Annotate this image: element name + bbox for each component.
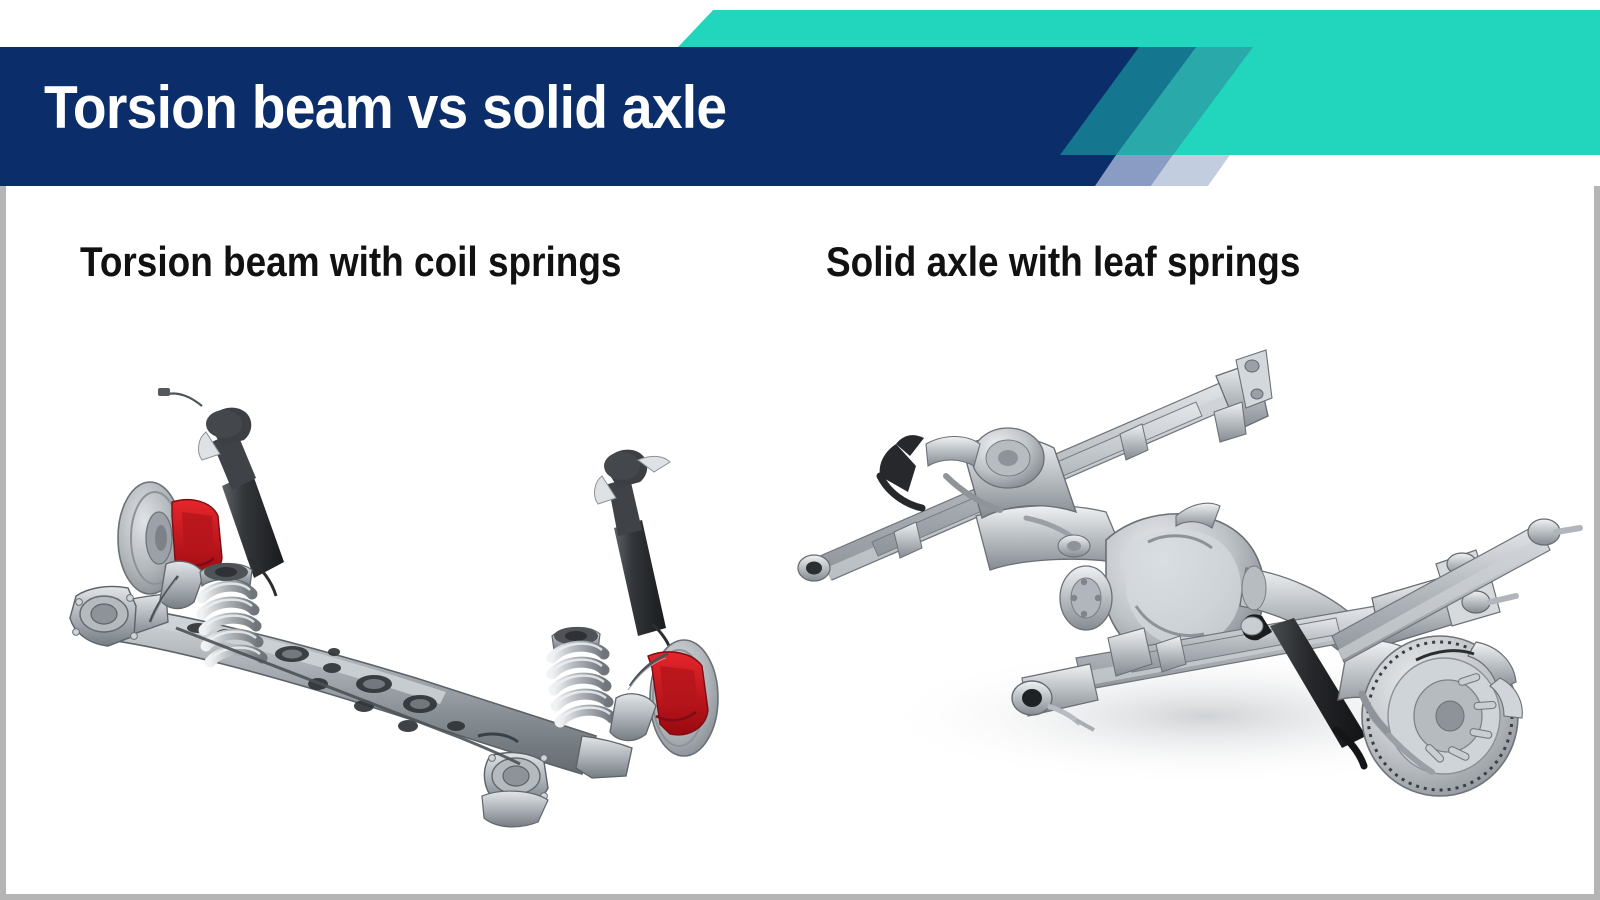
solid-axle-figure bbox=[776, 306, 1596, 826]
right-shock-absorber bbox=[595, 450, 674, 662]
right-coil-spring bbox=[552, 627, 612, 722]
solid-axle-leaf-spring-illustration bbox=[776, 306, 1596, 826]
brand-logo[interactable]: WapCar bbox=[1295, 52, 1600, 186]
left-coil-spring bbox=[200, 563, 262, 662]
caption-solid-axle: Solid axle with leaf springs bbox=[826, 238, 1300, 286]
wapcar-car-icon bbox=[1295, 52, 1600, 186]
caption-row: Torsion beam with coil springs Solid axl… bbox=[6, 238, 1600, 298]
header-banner: Torsion beam vs solid axle WapCar bbox=[0, 0, 1600, 186]
torsion-beam-figure bbox=[16, 306, 776, 866]
right-brake-assembly bbox=[610, 640, 718, 756]
caption-torsion-beam: Torsion beam with coil springs bbox=[80, 238, 621, 286]
page-title: Torsion beam vs solid axle bbox=[44, 75, 726, 141]
content-panel: Torsion beam with coil springs Solid axl… bbox=[0, 186, 1600, 900]
slide-root: Torsion beam vs solid axle WapCar Torsio… bbox=[0, 0, 1600, 900]
torsion-beam-suspension-illustration bbox=[16, 306, 776, 866]
